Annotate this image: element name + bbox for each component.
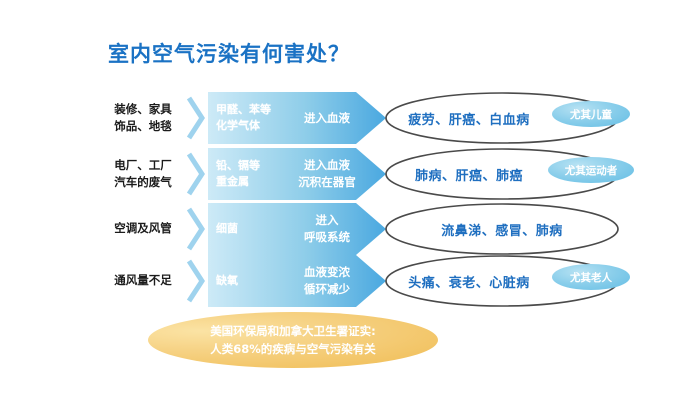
infographic-canvas: 室内空气污染有何害处？ 装修、家具 饰品、地毯 甲醛、苯等 bbox=[0, 0, 700, 400]
flow-row: 空调及风管 细菌 进入 呼吸系统 bbox=[0, 203, 700, 255]
outcome-group: 肺病、肝癌、肺癌 尤其运动者 bbox=[384, 147, 620, 201]
flow-row: 电厂、工厂 汽车的废气 铅、镉等 重金属 bbox=[0, 148, 700, 200]
source-label-line: 通风量不足 bbox=[114, 272, 172, 289]
effect-line: 呼吸系统 bbox=[304, 229, 350, 246]
outcome-group: 头痛、衰老、心脏病 尤其老人 bbox=[384, 254, 620, 308]
chevron-right-icon bbox=[186, 257, 206, 305]
outcome-label: 疲劳、肝癌、白血病 bbox=[384, 91, 554, 145]
source-label: 空调及风管 bbox=[104, 203, 182, 255]
agent-line: 细菌 bbox=[216, 221, 238, 237]
agent-line: 甲醛、苯等 bbox=[216, 102, 271, 118]
effect-line: 进入 bbox=[316, 212, 339, 229]
agent-line: 化学气体 bbox=[216, 118, 260, 134]
agent-text: 铅、镉等 重金属 bbox=[216, 148, 284, 200]
source-label-line: 汽车的废气 bbox=[114, 174, 172, 191]
source-label-line: 电厂、工厂 bbox=[114, 157, 172, 174]
source-label: 通风量不足 bbox=[104, 255, 182, 307]
outcome-group: 疲劳、肝癌、白血病 尤其儿童 bbox=[384, 91, 620, 145]
footer-text: 美国环保局和加拿大卫生署证实: 人类68%的疾病与空气污染有关 bbox=[148, 312, 438, 368]
source-label-line: 空调及风管 bbox=[114, 220, 172, 237]
process-arrow: 甲醛、苯等 化学气体 进入血液 bbox=[208, 92, 386, 144]
agent-text: 甲醛、苯等 化学气体 bbox=[216, 92, 284, 144]
outcome-label: 肺病、肝癌、肺癌 bbox=[384, 147, 554, 201]
effect-line: 循环减少 bbox=[304, 281, 350, 298]
outcome-label: 流鼻涕、感冒、肺病 bbox=[384, 202, 620, 256]
chevron-right-icon bbox=[186, 205, 206, 253]
process-arrow: 缺氧 血液变浓 循环减少 bbox=[208, 255, 386, 307]
flow-row: 装修、家具 饰品、地毯 甲醛、苯等 化学气体 bbox=[0, 92, 700, 144]
risk-group-badge: 尤其老人 bbox=[552, 264, 630, 290]
chevron-right-icon bbox=[186, 94, 206, 142]
outcome-group: 流鼻涕、感冒、肺病 bbox=[384, 202, 620, 256]
footer-banner: 美国环保局和加拿大卫生署证实: 人类68%的疾病与空气污染有关 bbox=[148, 312, 438, 368]
effect-line: 血液变浓 bbox=[304, 264, 350, 281]
source-label: 装修、家具 饰品、地毯 bbox=[104, 92, 182, 144]
effect-line: 进入血液 bbox=[304, 157, 350, 174]
risk-group-badge: 尤其运动者 bbox=[548, 157, 634, 183]
agent-text: 缺氧 bbox=[216, 255, 284, 307]
agent-line: 缺氧 bbox=[216, 273, 238, 289]
effect-text: 进入血液 bbox=[284, 92, 370, 144]
source-label: 电厂、工厂 汽车的废气 bbox=[104, 148, 182, 200]
risk-group-badge: 尤其儿童 bbox=[552, 101, 630, 127]
source-label-line: 装修、家具 bbox=[114, 101, 172, 118]
chevron-right-icon bbox=[186, 150, 206, 198]
outcome-label: 头痛、衰老、心脏病 bbox=[384, 254, 554, 308]
source-label-line: 饰品、地毯 bbox=[114, 118, 172, 135]
effect-text: 进入 呼吸系统 bbox=[284, 203, 370, 255]
footer-line-2: 人类68%的疾病与空气污染有关 bbox=[210, 340, 376, 358]
effect-text: 进入血液 沉积在器官 bbox=[284, 148, 370, 200]
effect-line: 进入血液 bbox=[304, 110, 350, 127]
process-arrow: 细菌 进入 呼吸系统 bbox=[208, 203, 386, 255]
footer-line-1: 美国环保局和加拿大卫生署证实: bbox=[210, 322, 376, 340]
page-title: 室内空气污染有何害处？ bbox=[108, 38, 350, 68]
agent-line: 铅、镉等 bbox=[216, 158, 260, 174]
effect-line: 沉积在器官 bbox=[298, 174, 356, 191]
effect-text: 血液变浓 循环减少 bbox=[284, 255, 370, 307]
agent-text: 细菌 bbox=[216, 203, 284, 255]
flow-row: 通风量不足 缺氧 血液变浓 循环减少 bbox=[0, 255, 700, 307]
process-arrow: 铅、镉等 重金属 进入血液 沉积在器官 bbox=[208, 148, 386, 200]
agent-line: 重金属 bbox=[216, 174, 249, 190]
